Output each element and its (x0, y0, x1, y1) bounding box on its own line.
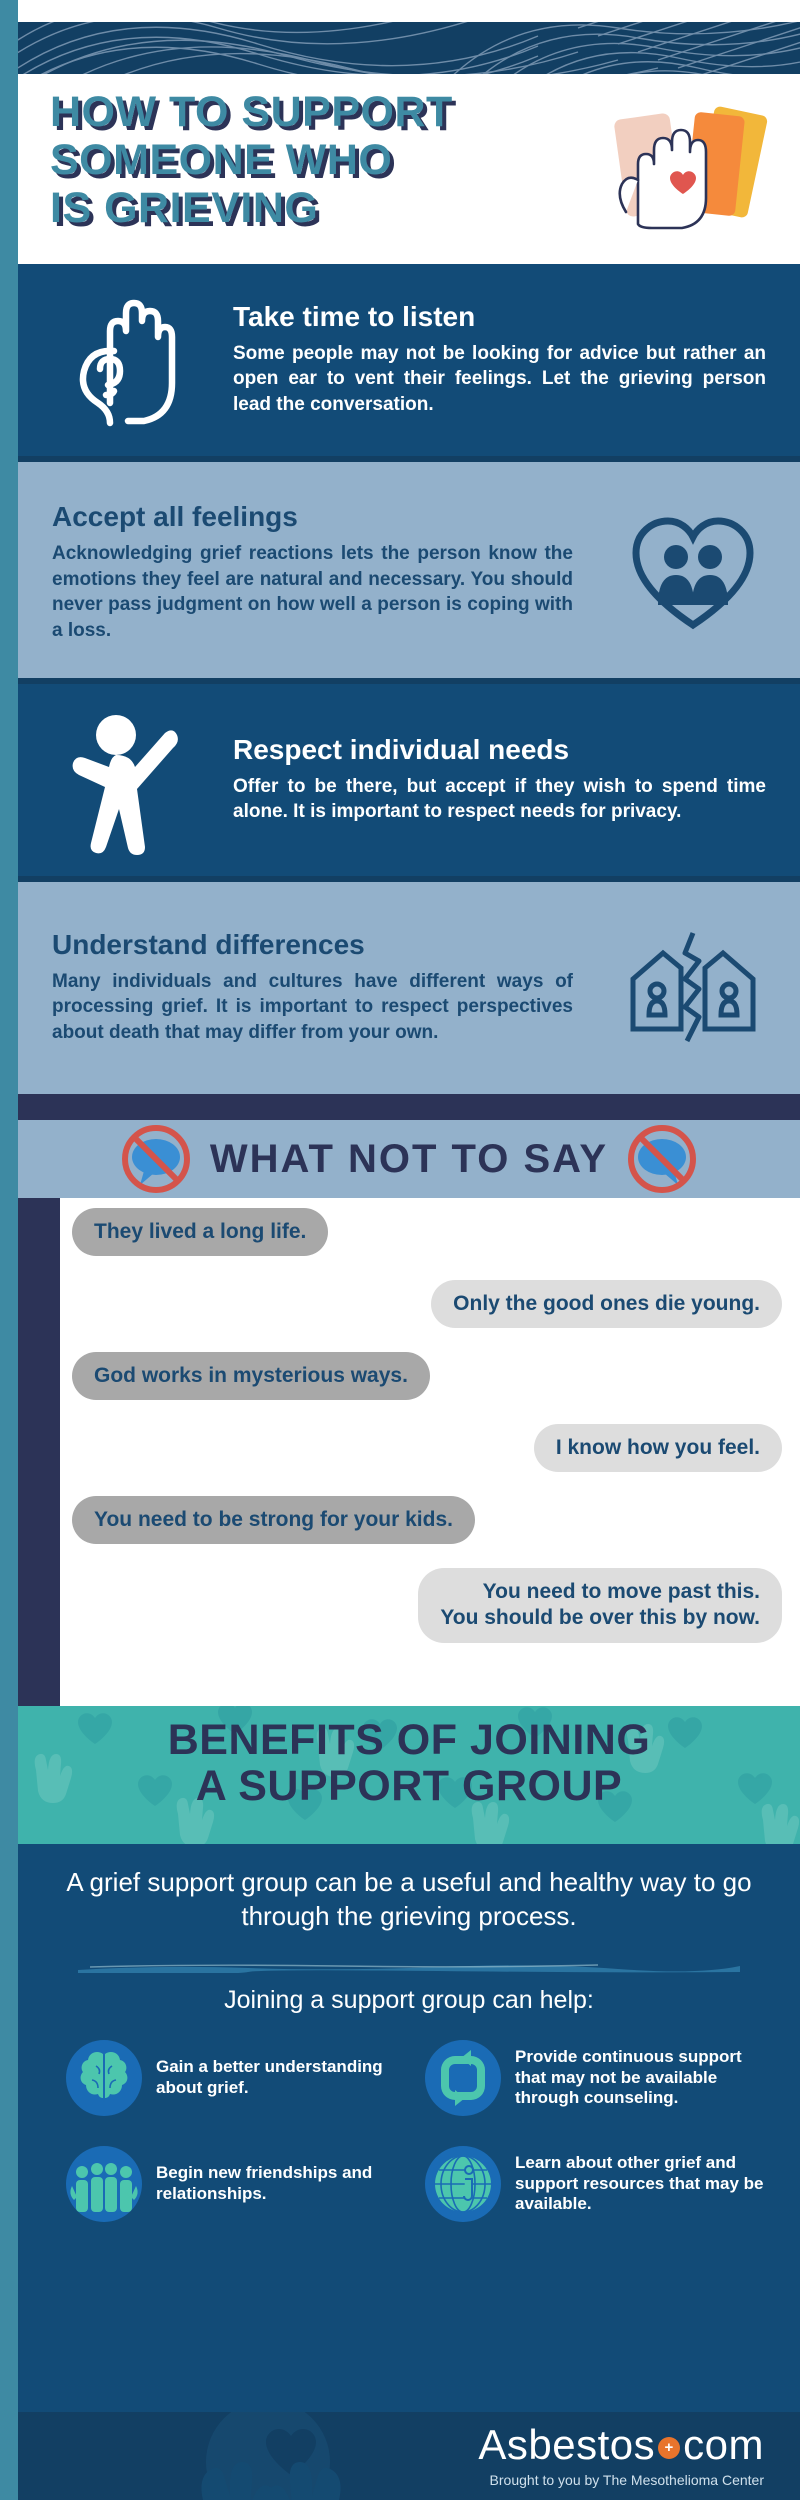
brand-tld: com (683, 2421, 764, 2468)
infographic-page: How to Support Someone Who Is Grieving (0, 0, 800, 2500)
brain-icon (66, 2040, 142, 2116)
benefit-item: Provide continuous support that may not … (425, 2040, 766, 2116)
benefits-intro-text: A grief support group can be a useful an… (58, 1866, 760, 1934)
tip-section-take-time-to-listen: Take time to listen Some people may not … (18, 264, 800, 456)
two-houses-divided-icon (623, 927, 763, 1049)
no-speech-bubble-icon (120, 1123, 192, 1195)
benefit-item: Gain a better understanding about grief. (66, 2040, 407, 2116)
benefits-header: Benefits of Joining a Support Group (18, 1706, 800, 1844)
title-line-2: Someone Who (50, 136, 610, 184)
page-title: How to Support Someone Who Is Grieving (50, 88, 610, 232)
quote-bubble: God works in mysterious ways. (72, 1352, 430, 1400)
brand-main: Asbestos (478, 2421, 655, 2468)
tip-icon-container (18, 291, 233, 429)
brush-divider (78, 1964, 740, 1973)
tip-heading: Accept all feelings (52, 502, 573, 533)
hands-holding-heart-watermark (138, 2412, 398, 2500)
quote-bubble: I know how you feel. (534, 1424, 782, 1472)
benefit-label: Begin new friendships and relationships. (156, 2163, 407, 2204)
brand-name: Asbestos+com (478, 2424, 764, 2466)
footer: Asbestos+com Brought to you by The Mesot… (18, 2412, 800, 2500)
benefits-title-line-1: Benefits of Joining (18, 1718, 800, 1764)
tip-text-container: Understand differences Many individuals … (18, 930, 585, 1046)
wave-pattern-graphic (18, 22, 800, 74)
no-speech-bubble-icon (626, 1123, 698, 1195)
tip-icon-container (18, 705, 233, 855)
tip-heading: Take time to listen (233, 302, 766, 333)
tip-body: Many individuals and cultures have diffe… (52, 969, 573, 1046)
quote-bubble: Only the good ones die young. (431, 1280, 782, 1328)
person-arms-open-icon (61, 705, 191, 855)
globe-info-icon (425, 2146, 501, 2222)
tip-heading: Understand differences (52, 930, 573, 961)
quote-bubble: They lived a long life. (72, 1208, 328, 1256)
brand-logo[interactable]: Asbestos+com Brought to you by The Mesot… (478, 2424, 764, 2488)
tip-text-container: Take time to listen Some people may not … (233, 302, 800, 418)
couple-in-heart-icon (628, 513, 758, 633)
brand-tagline: Brought to you by The Mesothelioma Cente… (478, 2472, 764, 2488)
quote-bubble: You need to move past this. You should b… (418, 1568, 782, 1643)
tip-text-container: Accept all feelings Acknowledging grief … (18, 502, 585, 644)
benefits-subheading: Joining a support group can help: (58, 1986, 760, 2015)
title-line-1: How to Support (50, 88, 610, 136)
title-line-3: Is Grieving (50, 184, 610, 232)
benefit-label: Learn about other grief and support reso… (515, 2153, 766, 2215)
tip-icon-container (585, 513, 800, 633)
what-not-to-say-left-rail (18, 1198, 60, 1706)
header-pattern-band (18, 22, 800, 74)
what-not-to-say-title: What Not To Say (210, 1137, 608, 1182)
title-band: How to Support Someone Who Is Grieving (18, 74, 800, 264)
benefits-title: Benefits of Joining a Support Group (18, 1706, 800, 1809)
benefit-label: Gain a better understanding about grief. (156, 2057, 407, 2098)
tip-text-container: Respect individual needs Offer to be the… (233, 735, 800, 825)
quote-bubble-list: They lived a long life. Only the good on… (72, 1198, 782, 1706)
left-rail (0, 0, 18, 2500)
helping-hands-illustration (586, 92, 776, 242)
tip-body: Some people may not be looking for advic… (233, 341, 766, 418)
tip-section-accept-all-feelings: Accept all feelings Acknowledging grief … (18, 462, 800, 684)
benefits-title-line-2: a Support Group (18, 1764, 800, 1810)
quote-bubble: You need to be strong for your kids. (72, 1496, 475, 1544)
refresh-cycle-icon (425, 2040, 501, 2116)
hand-and-ear-icon (66, 291, 186, 429)
tip-body: Acknowledging grief reactions lets the p… (52, 541, 573, 644)
tip-section-understand-differences: Understand differences Many individuals … (18, 882, 800, 1094)
tip-body: Offer to be there, but accept if they wi… (233, 774, 766, 826)
benefits-body: A grief support group can be a useful an… (18, 1844, 800, 2412)
benefit-item: Learn about other grief and support reso… (425, 2146, 766, 2222)
tip-heading: Respect individual needs (233, 735, 766, 766)
tip-section-respect-individual-needs: Respect individual needs Offer to be the… (18, 684, 800, 876)
brand-dot-icon: + (658, 2437, 680, 2459)
benefit-label: Provide continuous support that may not … (515, 2047, 766, 2109)
what-not-to-say-header: What Not To Say (18, 1120, 800, 1198)
tip-icon-container (585, 927, 800, 1049)
benefits-grid: Gain a better understanding about grief.… (66, 2040, 766, 2222)
benefit-item: Begin new friendships and relationships. (66, 2146, 407, 2222)
what-not-to-say-top-bar (18, 1094, 800, 1120)
group-of-people-icon (66, 2146, 142, 2222)
